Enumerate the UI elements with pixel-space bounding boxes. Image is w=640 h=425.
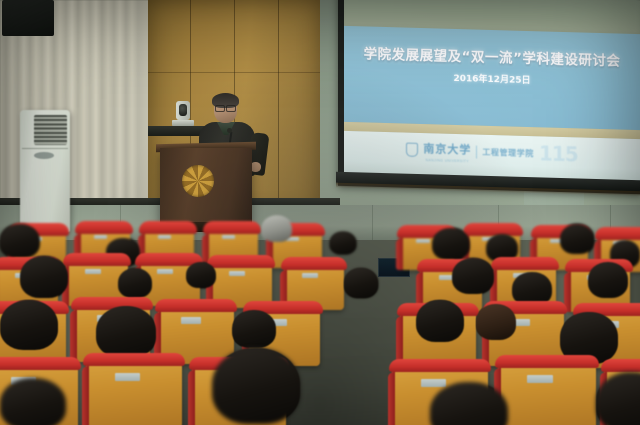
seat-number-plate <box>157 269 173 274</box>
attendee-head <box>330 232 356 254</box>
attendee-head <box>0 224 40 258</box>
attendee-head <box>432 228 470 260</box>
attendee-head <box>20 256 68 298</box>
camera-base <box>172 120 194 126</box>
auditorium-seat <box>498 360 596 425</box>
projection-screen: 学院发展展望及“双一流”学科建设研讨会 2016年12月25日 南京大学 NAN… <box>344 0 640 182</box>
lectern-emblem-icon <box>182 165 214 197</box>
camera-lens-icon <box>179 104 187 116</box>
attendee-head <box>0 378 66 425</box>
attendee-head <box>212 348 300 424</box>
logo-divider <box>476 145 477 158</box>
attendee-head <box>118 268 152 298</box>
attendee-head <box>0 300 58 350</box>
auditorium-seat <box>86 358 182 425</box>
attendee-head <box>344 268 378 298</box>
seat-number-plate <box>416 239 430 243</box>
attendee-head <box>588 262 628 298</box>
seat-number-plate <box>94 235 108 239</box>
school-logo-text: 工程管理学院 <box>482 146 534 158</box>
seat-number-plate <box>181 317 201 324</box>
seat-number-plate <box>222 235 236 239</box>
floor-air-conditioner <box>20 110 70 232</box>
seat-number-plate <box>115 373 140 381</box>
attendee-head <box>232 310 276 348</box>
attendee-head <box>560 224 594 254</box>
seat-number-plate <box>527 375 552 383</box>
nju-shield-icon <box>406 143 418 157</box>
attendee-head <box>476 304 516 340</box>
seat-number-plate <box>229 271 245 276</box>
seat-number-plate <box>421 379 446 387</box>
seat-number-plate <box>158 235 172 239</box>
attendee-head <box>416 300 464 342</box>
lectern <box>160 148 252 226</box>
attendee-head <box>452 258 494 294</box>
eyeglasses-icon <box>215 105 236 110</box>
university-logo-text: 南京大学 NANJING UNIVERSITY <box>423 139 471 163</box>
ceiling-loudspeaker-icon <box>2 0 54 36</box>
seat-number-plate <box>302 273 318 278</box>
seat-number-plate <box>85 269 101 274</box>
ac-brand-badge <box>34 152 54 159</box>
attendee-head <box>186 262 216 288</box>
lecture-hall-photograph: 学院发展展望及“双一流”学科建设研讨会 2016年12月25日 南京大学 NAN… <box>0 0 640 425</box>
microphone-icon <box>227 128 232 133</box>
anniversary-number: 115 <box>539 141 578 166</box>
attendee-head <box>96 306 156 358</box>
ac-vent-grille <box>34 115 67 145</box>
attendee-head <box>262 216 292 242</box>
